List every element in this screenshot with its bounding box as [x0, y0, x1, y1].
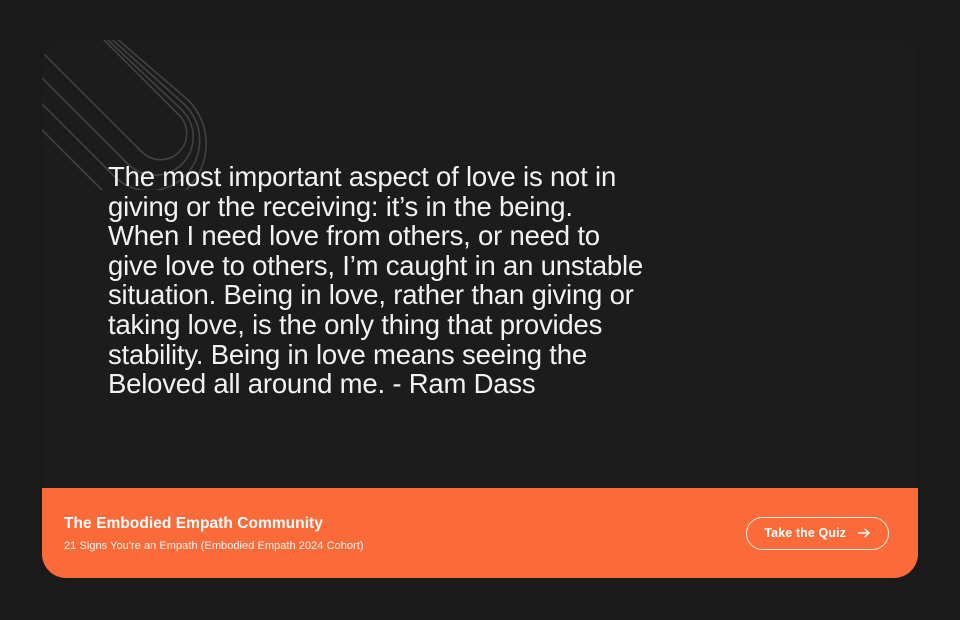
community-subtitle: 21 Signs You're an Empath (Embodied Empa… [64, 540, 364, 552]
take-the-quiz-button[interactable]: Take the Quiz [746, 517, 889, 550]
take-the-quiz-label: Take the Quiz [764, 526, 846, 540]
quote-text: The most important aspect of love is not… [108, 162, 708, 399]
community-title: The Embodied Empath Community [64, 515, 364, 533]
arrow-right-icon [857, 526, 871, 540]
quote-area: The most important aspect of love is not… [108, 162, 708, 399]
footer-bar: The Embodied Empath Community 21 Signs Y… [42, 488, 918, 578]
footer-text-group: The Embodied Empath Community 21 Signs Y… [64, 515, 364, 552]
screen: The most important aspect of love is not… [0, 0, 960, 620]
quote-card: The most important aspect of love is not… [42, 40, 918, 578]
